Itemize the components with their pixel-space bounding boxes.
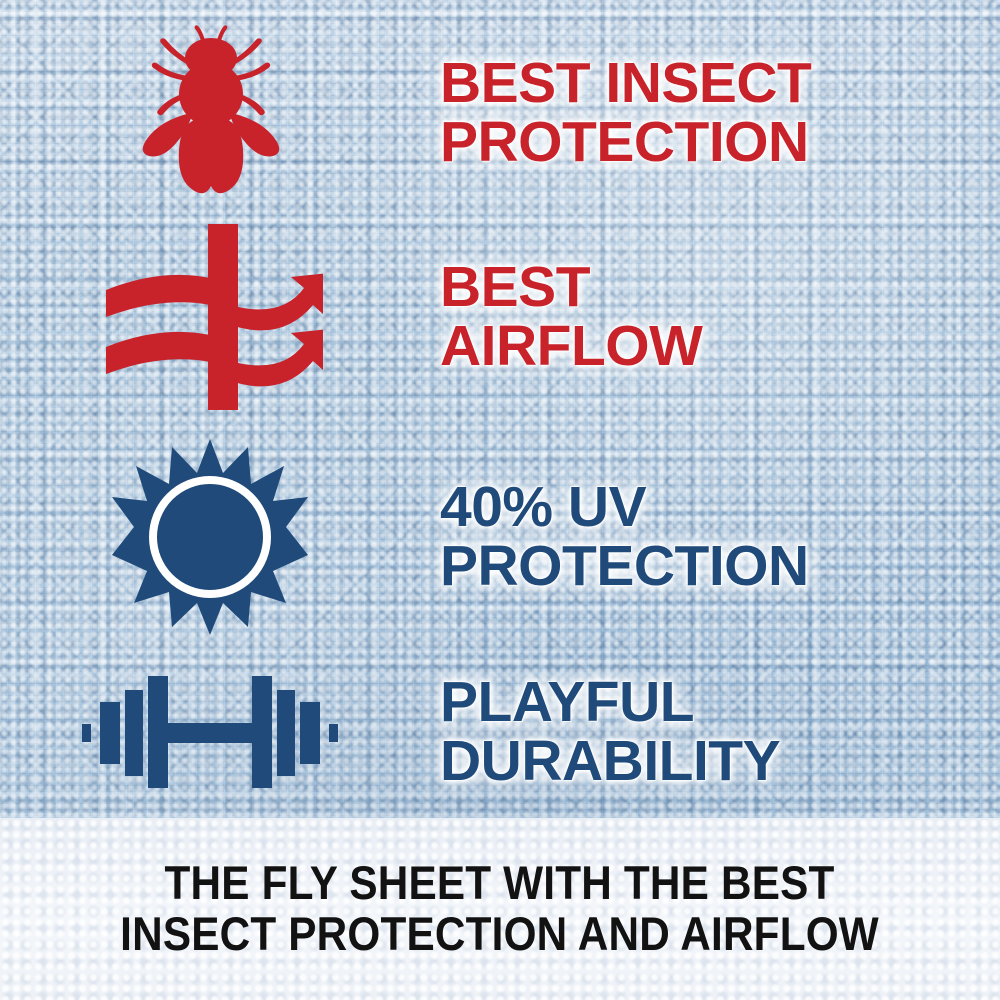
infographic-page: BEST INSECT PROTECTION	[0, 0, 1000, 1000]
fly-icon	[135, 18, 285, 208]
feature-list: BEST INSECT PROTECTION	[0, 0, 1000, 820]
feature-row-airflow: BEST AIRFLOW	[0, 222, 1000, 412]
airflow-through-barrier-icon	[98, 222, 323, 412]
caption-strip: THE FLY SHEET WITH THE BEST INSECT PROTE…	[0, 818, 1000, 1000]
icon-cell-1	[0, 18, 420, 208]
icon-cell-4	[0, 662, 420, 802]
icon-cell-2	[0, 222, 420, 412]
feature-row-uv-protection: 40% UV PROTECTION	[0, 432, 1000, 642]
feature-label-insect-protection: BEST INSECT PROTECTION	[440, 54, 1000, 171]
feature-row-durability: PLAYFUL DURABILITY	[0, 652, 1000, 812]
icon-cell-3	[0, 437, 420, 637]
caption-text: THE FLY SHEET WITH THE BEST INSECT PROTE…	[121, 858, 880, 960]
sun-core	[158, 485, 262, 589]
text-cell-1: BEST INSECT PROTECTION	[420, 54, 1000, 171]
dumbbell-icon	[80, 662, 340, 802]
feature-label-airflow: BEST AIRFLOW	[440, 258, 1000, 375]
text-cell-3: 40% UV PROTECTION	[420, 478, 1000, 595]
feature-label-uv-protection: 40% UV PROTECTION	[440, 478, 1000, 595]
text-cell-4: PLAYFUL DURABILITY	[420, 673, 1000, 790]
sun-uv-icon	[110, 437, 310, 637]
feature-label-durability: PLAYFUL DURABILITY	[440, 673, 1000, 790]
text-cell-2: BEST AIRFLOW	[420, 258, 1000, 375]
feature-row-insect-protection: BEST INSECT PROTECTION	[0, 18, 1000, 208]
